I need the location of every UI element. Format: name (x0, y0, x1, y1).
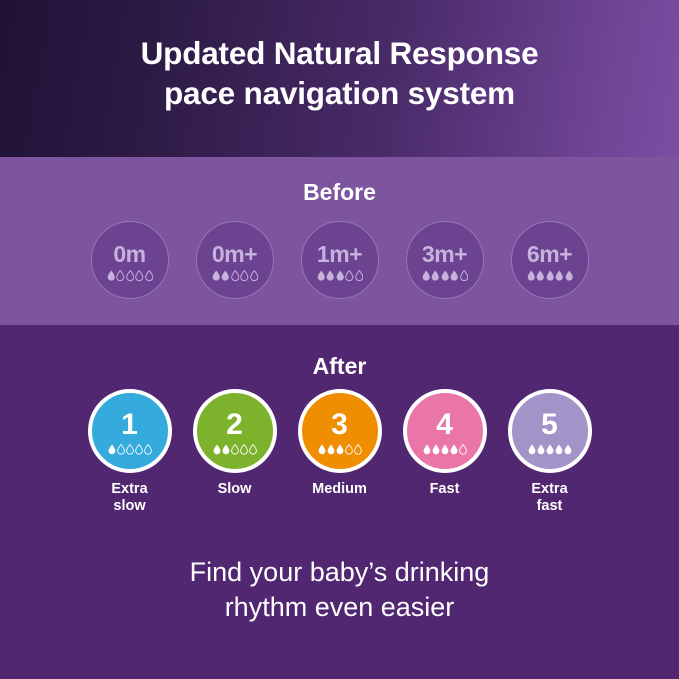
after-droplet-row (528, 444, 572, 455)
after-heading: After (0, 353, 679, 380)
droplet-filled-icon (423, 444, 431, 455)
after-droplet-row (108, 444, 152, 455)
droplet-filled-icon (546, 270, 554, 281)
before-circle-row: 0m0m+1m+3m+6m+ (0, 221, 679, 299)
before-age-label: 3m+ (422, 242, 467, 266)
after-pace-label: Slow (218, 481, 252, 498)
droplet-filled-icon (108, 444, 116, 455)
before-droplet-row (317, 270, 363, 281)
droplet-empty-icon (459, 444, 467, 455)
droplet-filled-icon (441, 270, 449, 281)
before-pace-circle: 1m+ (301, 221, 379, 299)
after-droplet-row (213, 444, 257, 455)
droplet-filled-icon (537, 444, 545, 455)
after-pace-item: 5Extrafast (505, 389, 595, 515)
droplet-filled-icon (326, 270, 334, 281)
droplet-empty-icon (345, 270, 353, 281)
droplet-filled-icon (222, 444, 230, 455)
droplet-filled-icon (221, 270, 229, 281)
droplet-empty-icon (126, 270, 134, 281)
droplet-filled-icon (431, 270, 439, 281)
droplet-filled-icon (213, 444, 221, 455)
after-pace-label: Extraslow (111, 481, 147, 515)
droplet-empty-icon (355, 270, 363, 281)
before-heading: Before (0, 179, 679, 206)
droplet-empty-icon (345, 444, 353, 455)
after-pace-circle: 3 (298, 389, 382, 473)
before-age-label: 6m+ (527, 242, 572, 266)
droplet-filled-icon (317, 270, 325, 281)
droplet-filled-icon (536, 270, 544, 281)
page-title-line1: Updated Natural Response (141, 35, 539, 71)
before-droplet-row (212, 270, 258, 281)
after-pace-label: Fast (430, 481, 460, 498)
after-pace-label-line1: Extra (531, 481, 567, 497)
droplet-filled-icon (422, 270, 430, 281)
footer-tagline: Find your baby’s drinking rhythm even ea… (0, 555, 679, 625)
after-circle-row: 1Extraslow2Slow3Medium4Fast5Extrafast (0, 389, 679, 515)
before-droplet-row (422, 270, 468, 281)
after-pace-item: 1Extraslow (85, 389, 175, 515)
droplet-empty-icon (460, 270, 468, 281)
page-title-line2: pace navigation system (0, 73, 679, 113)
before-section: Before 0m0m+1m+3m+6m+ (0, 157, 679, 325)
droplet-empty-icon (126, 444, 134, 455)
droplet-filled-icon (212, 270, 220, 281)
after-pace-label: Medium (312, 481, 367, 498)
after-pace-number: 4 (436, 410, 453, 440)
droplet-empty-icon (240, 444, 248, 455)
droplet-filled-icon (107, 270, 115, 281)
after-pace-number: 5 (541, 410, 558, 440)
after-pace-number: 3 (331, 410, 348, 440)
after-pace-label-line1: Extra (111, 481, 147, 497)
droplet-filled-icon (546, 444, 554, 455)
droplet-empty-icon (116, 270, 124, 281)
droplet-empty-icon (250, 270, 258, 281)
before-pace-circle: 3m+ (406, 221, 484, 299)
header-banner: Updated Natural Response pace navigation… (0, 0, 679, 157)
droplet-empty-icon (231, 444, 239, 455)
after-droplet-row (423, 444, 467, 455)
droplet-filled-icon (555, 270, 563, 281)
before-droplet-row (107, 270, 153, 281)
droplet-filled-icon (528, 444, 536, 455)
after-pace-item: 2Slow (190, 389, 280, 498)
droplet-empty-icon (117, 444, 125, 455)
after-pace-number: 2 (226, 410, 243, 440)
droplet-empty-icon (231, 270, 239, 281)
before-age-label: 1m+ (317, 242, 362, 266)
droplet-filled-icon (527, 270, 535, 281)
before-pace-circle: 6m+ (511, 221, 589, 299)
droplet-filled-icon (555, 444, 563, 455)
after-section: After 1Extraslow2Slow3Medium4Fast5Extraf… (0, 325, 679, 679)
footer-line2: rhythm even easier (0, 590, 679, 625)
after-pace-label-line1: Medium (312, 481, 367, 497)
droplet-filled-icon (336, 444, 344, 455)
after-pace-item: 4Fast (400, 389, 490, 498)
droplet-empty-icon (144, 444, 152, 455)
droplet-empty-icon (240, 270, 248, 281)
after-pace-label-line2: slow (113, 498, 145, 514)
droplet-empty-icon (354, 444, 362, 455)
page-title: Updated Natural Response pace navigation… (0, 33, 679, 113)
droplet-filled-icon (565, 270, 573, 281)
footer-line1: Find your baby’s drinking (190, 557, 490, 587)
after-pace-number: 1 (121, 410, 138, 440)
after-pace-circle: 1 (88, 389, 172, 473)
droplet-filled-icon (450, 444, 458, 455)
droplet-empty-icon (249, 444, 257, 455)
droplet-filled-icon (564, 444, 572, 455)
droplet-empty-icon (145, 270, 153, 281)
droplet-filled-icon (450, 270, 458, 281)
before-pace-circle: 0m+ (196, 221, 274, 299)
droplet-filled-icon (441, 444, 449, 455)
after-pace-label-line1: Slow (218, 481, 252, 497)
droplet-filled-icon (432, 444, 440, 455)
after-pace-label-line1: Fast (430, 481, 460, 497)
infographic-poster: Updated Natural Response pace navigation… (0, 0, 679, 679)
before-pace-circle: 0m (91, 221, 169, 299)
before-droplet-row (527, 270, 573, 281)
droplet-filled-icon (318, 444, 326, 455)
before-age-label: 0m+ (212, 242, 257, 266)
droplet-filled-icon (336, 270, 344, 281)
droplet-filled-icon (327, 444, 335, 455)
after-pace-circle: 5 (508, 389, 592, 473)
after-pace-label-line2: fast (537, 498, 563, 514)
after-pace-circle: 2 (193, 389, 277, 473)
before-age-label: 0m (113, 242, 145, 266)
after-pace-circle: 4 (403, 389, 487, 473)
after-droplet-row (318, 444, 362, 455)
after-pace-item: 3Medium (295, 389, 385, 498)
droplet-empty-icon (135, 270, 143, 281)
droplet-empty-icon (135, 444, 143, 455)
after-pace-label: Extrafast (531, 481, 567, 515)
